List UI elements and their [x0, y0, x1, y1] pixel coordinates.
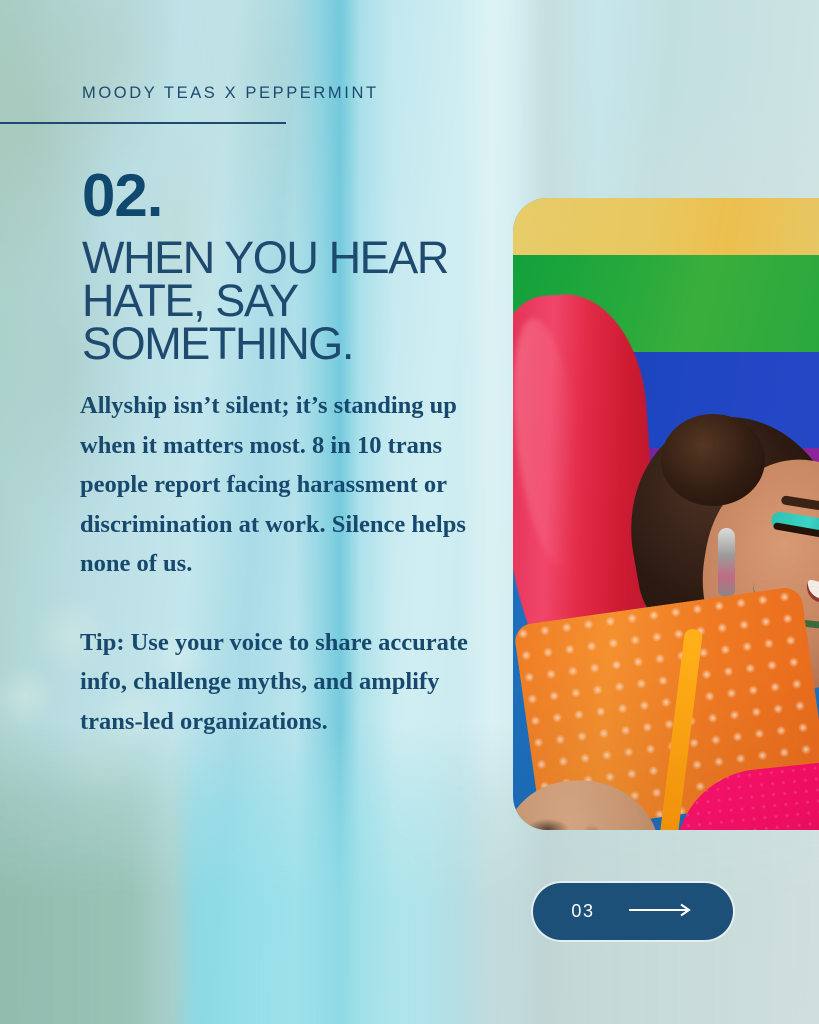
- body-copy: Allyship isn’t silent; it’s standing up …: [80, 386, 472, 741]
- next-slide-label: 03: [571, 901, 594, 922]
- slide-number: 02.: [82, 166, 162, 226]
- slide-canvas: MOODY TEAS X PEPPERMINT 02. WHEN YOU HEA…: [0, 0, 819, 1024]
- page-title: WHEN YOU HEAR HATE, SAY SOMETHING.: [82, 236, 482, 366]
- next-slide-button[interactable]: 03: [533, 883, 733, 940]
- pride-flag-band-yellow: [513, 198, 819, 255]
- person-hair-bun: [661, 414, 765, 506]
- body-paragraph-tip: Tip: Use your voice to share accurate in…: [80, 623, 472, 742]
- person-arm-tattoo: [515, 798, 663, 830]
- arrow-right-icon: [629, 903, 695, 920]
- feature-photo: [513, 198, 819, 830]
- person-earring: [718, 528, 735, 598]
- body-paragraph-1: Allyship isn’t silent; it’s standing up …: [80, 386, 472, 584]
- brand-eyebrow: MOODY TEAS X PEPPERMINT: [82, 84, 379, 103]
- header-divider: [0, 122, 286, 124]
